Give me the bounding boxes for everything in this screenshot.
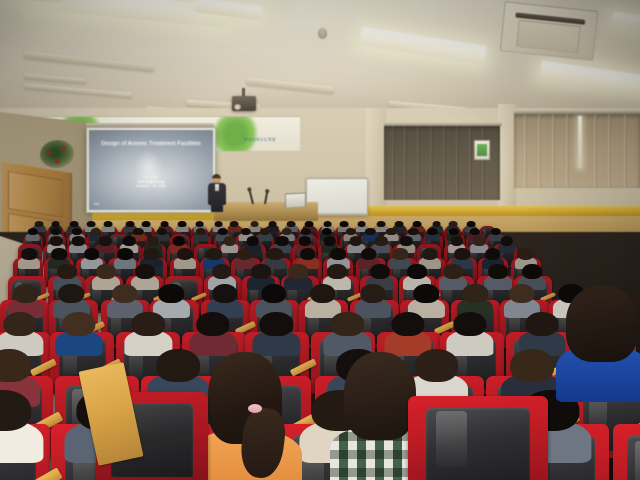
wreath-berry bbox=[55, 159, 60, 164]
audience-member bbox=[375, 236, 387, 253]
seat-sheen bbox=[635, 441, 640, 480]
audience-head bbox=[3, 312, 36, 337]
audience-head bbox=[328, 264, 348, 279]
audience-head bbox=[70, 221, 79, 227]
audience-head bbox=[84, 248, 100, 260]
audience-head bbox=[86, 221, 95, 227]
audience-member bbox=[365, 228, 375, 242]
audience-head bbox=[453, 312, 486, 337]
audience-head bbox=[90, 228, 100, 236]
audience-head bbox=[261, 284, 286, 303]
curtain-fold bbox=[566, 114, 569, 188]
ac-vent-inner bbox=[516, 20, 581, 53]
audience-member bbox=[223, 236, 235, 253]
audience-head bbox=[522, 264, 542, 279]
audience-head bbox=[159, 284, 184, 303]
audience-head bbox=[392, 248, 408, 260]
auditorium-seat[interactable] bbox=[613, 424, 640, 480]
curtain-dark bbox=[384, 126, 500, 200]
audience-head bbox=[50, 228, 60, 236]
audience-member bbox=[473, 236, 485, 253]
audience-head bbox=[241, 228, 251, 236]
audience-head bbox=[466, 221, 475, 227]
audience-member bbox=[250, 221, 259, 233]
laptop bbox=[285, 192, 306, 208]
audience-member bbox=[289, 264, 309, 292]
audience-head bbox=[51, 221, 60, 227]
audience-member bbox=[392, 248, 408, 270]
audience-member bbox=[500, 236, 512, 253]
audience-head bbox=[331, 312, 364, 337]
audience-head bbox=[300, 228, 310, 236]
audience-head bbox=[322, 228, 332, 236]
seat-sheen bbox=[436, 411, 467, 467]
audience-head bbox=[408, 228, 418, 236]
audience-head bbox=[518, 248, 534, 260]
audience-head bbox=[35, 221, 44, 227]
audience-member bbox=[135, 264, 155, 292]
audience-member bbox=[237, 248, 253, 270]
audience-head bbox=[422, 248, 438, 260]
audience-member bbox=[377, 221, 386, 233]
audience-member bbox=[72, 236, 84, 253]
audience-head bbox=[0, 349, 31, 382]
audience-head bbox=[386, 228, 396, 236]
curtain-fold bbox=[443, 126, 446, 200]
audience-head bbox=[282, 228, 292, 236]
hair-tie bbox=[248, 404, 262, 413]
audience-head bbox=[488, 264, 508, 279]
audience-member bbox=[99, 236, 111, 253]
audience-head bbox=[413, 221, 422, 227]
audience-head bbox=[135, 264, 155, 279]
banner-text-right: 한국상하수도학회 bbox=[244, 137, 276, 143]
door-panel bbox=[8, 171, 63, 218]
audience-head bbox=[157, 228, 167, 236]
audience-head bbox=[27, 228, 37, 236]
audience-head bbox=[377, 221, 386, 227]
audience-head bbox=[340, 221, 349, 227]
audience-head bbox=[470, 228, 480, 236]
curtain-fold bbox=[594, 114, 597, 188]
audience-head bbox=[395, 221, 404, 227]
wreath-berry bbox=[46, 150, 51, 155]
audience-head bbox=[59, 284, 84, 303]
audience-member bbox=[443, 264, 463, 292]
audience-member bbox=[488, 264, 508, 292]
audience-head bbox=[177, 248, 193, 260]
audience-head bbox=[21, 248, 37, 260]
audience-head bbox=[345, 228, 355, 236]
audience-member bbox=[117, 248, 133, 270]
audience-head bbox=[443, 264, 463, 279]
wreath-berry bbox=[61, 145, 66, 150]
curtain-fold bbox=[482, 126, 485, 200]
audience-head bbox=[218, 228, 228, 236]
audience-member bbox=[260, 228, 270, 242]
audience-member bbox=[386, 228, 396, 242]
ceiling-ac-vent bbox=[500, 1, 599, 61]
audience-head bbox=[237, 248, 253, 260]
audience-member bbox=[230, 221, 239, 233]
audience-member bbox=[453, 312, 486, 359]
presenter-shirt bbox=[215, 184, 219, 191]
audience-head bbox=[509, 284, 534, 303]
audience-head bbox=[485, 248, 501, 260]
audience-head bbox=[414, 284, 439, 303]
audience-head bbox=[462, 284, 487, 303]
curtain-fold bbox=[538, 114, 541, 188]
audience-member bbox=[104, 221, 113, 233]
audience-member bbox=[27, 228, 37, 242]
audience-head bbox=[160, 221, 169, 227]
audience-head bbox=[132, 312, 165, 337]
audience-head bbox=[454, 248, 470, 260]
audience-head bbox=[96, 264, 116, 279]
audience-head bbox=[260, 228, 270, 236]
slide-subline-3: Houston, TX, USA bbox=[89, 184, 213, 189]
audience-head bbox=[13, 284, 38, 303]
audience-head bbox=[300, 248, 316, 260]
audience-head bbox=[304, 221, 313, 227]
audience-head bbox=[491, 228, 501, 236]
audience-member bbox=[177, 248, 193, 270]
audience-head bbox=[331, 248, 347, 260]
audience-head bbox=[144, 248, 160, 260]
audience-head bbox=[212, 284, 237, 303]
plaid-hair bbox=[344, 352, 416, 440]
curtain-fold bbox=[469, 126, 472, 200]
audience-head bbox=[260, 312, 293, 337]
curtain-fold bbox=[608, 114, 611, 188]
audience-head bbox=[58, 264, 78, 279]
projector-lens bbox=[234, 104, 241, 110]
slide-title: Design of Arsenic Treatment Facilities bbox=[89, 141, 213, 147]
presenter bbox=[208, 174, 226, 210]
audience-head bbox=[448, 221, 457, 227]
audience-head bbox=[230, 221, 239, 227]
audience-head bbox=[289, 264, 309, 279]
audience-head bbox=[365, 228, 375, 236]
audience-head bbox=[195, 221, 204, 227]
foreground-person-blue bbox=[556, 286, 640, 398]
audience-member bbox=[427, 228, 437, 242]
audience-head bbox=[361, 248, 377, 260]
audience-head bbox=[323, 221, 332, 227]
audience-head bbox=[268, 248, 284, 260]
audience-head bbox=[407, 264, 427, 279]
audience-head bbox=[207, 248, 223, 260]
audience-head bbox=[432, 221, 441, 227]
presenter-legs bbox=[211, 203, 223, 212]
slide-subtitle: U. S. A. AIM Engineering Houston, TX, US… bbox=[89, 175, 213, 189]
curtain-fold bbox=[417, 126, 420, 200]
curtain-fold bbox=[456, 126, 459, 200]
curtain-fold bbox=[624, 114, 627, 188]
audience-head bbox=[371, 264, 391, 279]
audience-head bbox=[212, 264, 232, 279]
exit-sign bbox=[474, 140, 490, 160]
curtain-fold bbox=[524, 114, 527, 188]
audience-head bbox=[391, 312, 424, 337]
audience-head bbox=[117, 248, 133, 260]
wall-pillar bbox=[366, 108, 386, 220]
projection-screen: Design of Arsenic Treatment Facilities U… bbox=[86, 127, 216, 213]
curtain-light bbox=[514, 114, 640, 188]
audience-member bbox=[491, 228, 501, 242]
curtain-fold bbox=[404, 126, 407, 200]
lecture-hall-photo: 상수도 학회 한국상하수도학회 bbox=[0, 0, 640, 480]
audience-head bbox=[126, 221, 135, 227]
audience-member bbox=[21, 248, 37, 270]
audience-head bbox=[72, 228, 82, 236]
audience-head bbox=[268, 221, 277, 227]
audience-head bbox=[214, 221, 223, 227]
audience-head bbox=[52, 248, 68, 260]
audience-member bbox=[62, 312, 95, 359]
audience-head bbox=[525, 312, 558, 337]
curtain-fold bbox=[552, 114, 555, 188]
audience-member bbox=[178, 221, 187, 233]
audience-head bbox=[360, 284, 385, 303]
audience-head bbox=[510, 349, 554, 382]
slide-logo: WA bbox=[94, 202, 99, 206]
curtain-light-gap bbox=[578, 116, 582, 168]
sprinkler-head bbox=[318, 28, 327, 39]
auditorium-seat-foreground[interactable] bbox=[408, 396, 548, 480]
audience-head bbox=[197, 312, 230, 337]
audience-member bbox=[0, 390, 31, 469]
audience-member bbox=[196, 228, 206, 242]
audience-head bbox=[287, 221, 296, 227]
curtain-fold bbox=[430, 126, 433, 200]
slide-content: Design of Arsenic Treatment Facilities U… bbox=[89, 130, 213, 210]
blue-hair bbox=[566, 286, 638, 362]
audience-head bbox=[427, 228, 437, 236]
audience-head bbox=[133, 228, 143, 236]
audience-head bbox=[449, 228, 459, 236]
audience-head bbox=[62, 312, 95, 337]
microphone-head bbox=[247, 187, 252, 192]
audience-head bbox=[196, 228, 206, 236]
audience-head bbox=[251, 264, 271, 279]
exit-sign-graphic bbox=[477, 144, 487, 156]
audience-head bbox=[357, 221, 366, 227]
audience-head bbox=[178, 221, 187, 227]
audience-head bbox=[141, 221, 150, 227]
curtain-fold bbox=[392, 126, 395, 200]
audience-head bbox=[250, 221, 259, 227]
audience-head bbox=[112, 284, 137, 303]
audience-head bbox=[104, 221, 113, 227]
audience-head bbox=[310, 284, 335, 303]
